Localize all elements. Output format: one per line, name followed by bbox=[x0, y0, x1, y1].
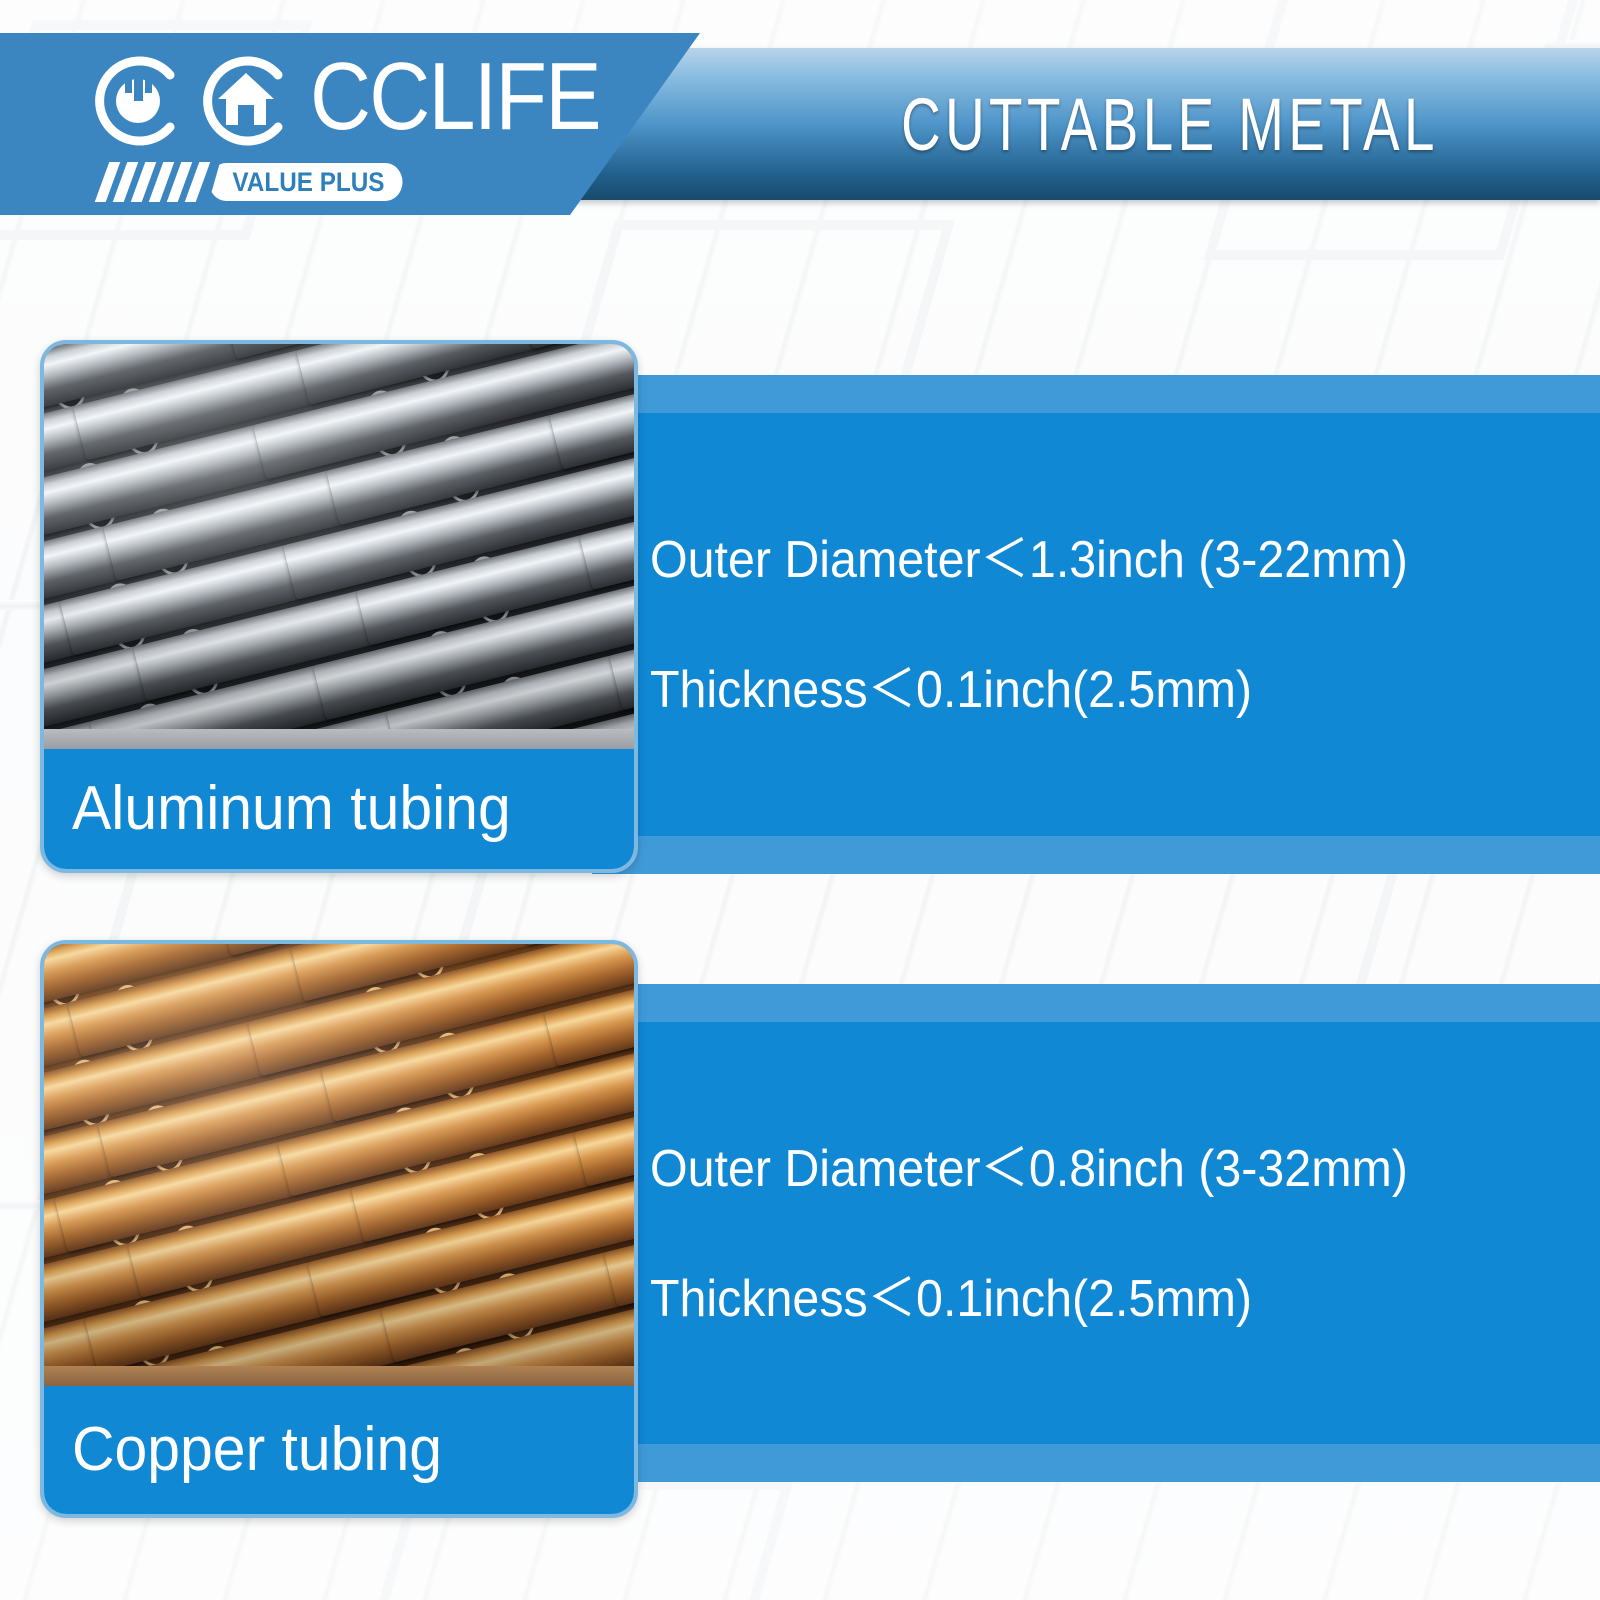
spec-thickness: Thickness＜0.1inch(2.5mm) bbox=[650, 661, 1524, 719]
logo-text: CCLIFE bbox=[310, 49, 600, 145]
spec-list-copper: Outer Diameter＜0.8inch (3-32mm) Thicknes… bbox=[650, 1022, 1590, 1445]
spec-panel-aluminum: Outer Diameter＜1.3inch (3-22mm) Thicknes… bbox=[592, 375, 1600, 525]
clock-dial-icon bbox=[92, 53, 188, 149]
house-icon bbox=[200, 53, 296, 149]
product-card-aluminum: Aluminum tubing bbox=[40, 340, 638, 873]
panel-strip-bottom bbox=[592, 1444, 1600, 1482]
copper-tubing-photo bbox=[44, 944, 634, 1386]
slashes-icon bbox=[102, 162, 203, 202]
caption-label: Aluminum tubing bbox=[72, 776, 511, 842]
infographic-page: CUTTABLE METAL bbox=[0, 0, 1600, 1600]
caption-copper: Copper tubing bbox=[44, 1386, 634, 1514]
tagline-badge: VALUE PLUS bbox=[209, 163, 403, 201]
spec-outer-diameter: Outer Diameter＜0.8inch (3-32mm) bbox=[650, 1140, 1524, 1198]
aluminum-tubing-photo bbox=[44, 344, 634, 749]
spec-thickness: Thickness＜0.1inch(2.5mm) bbox=[650, 1270, 1524, 1328]
logo-wordmark: CCLIFE bbox=[92, 47, 562, 155]
caption-aluminum: Aluminum tubing bbox=[44, 749, 634, 869]
product-row-copper: Outer Diameter＜0.8inch (3-32mm) Thicknes… bbox=[0, 930, 1600, 1490]
page-title: CUTTABLE METAL bbox=[867, 48, 1474, 200]
panel-strip-top bbox=[592, 984, 1600, 1022]
product-row-aluminum: Outer Diameter＜1.3inch (3-22mm) Thicknes… bbox=[0, 330, 1600, 890]
spec-outer-diameter: Outer Diameter＜1.3inch (3-22mm) bbox=[650, 531, 1524, 589]
panel-strip-bottom bbox=[592, 836, 1600, 874]
caption-label: Copper tubing bbox=[72, 1417, 442, 1483]
panel-strip-top bbox=[592, 375, 1600, 413]
product-card-copper: Copper tubing bbox=[40, 940, 638, 1518]
spec-list-aluminum: Outer Diameter＜1.3inch (3-22mm) Thicknes… bbox=[650, 413, 1590, 836]
logo-tagline-group: VALUE PLUS bbox=[102, 159, 424, 205]
